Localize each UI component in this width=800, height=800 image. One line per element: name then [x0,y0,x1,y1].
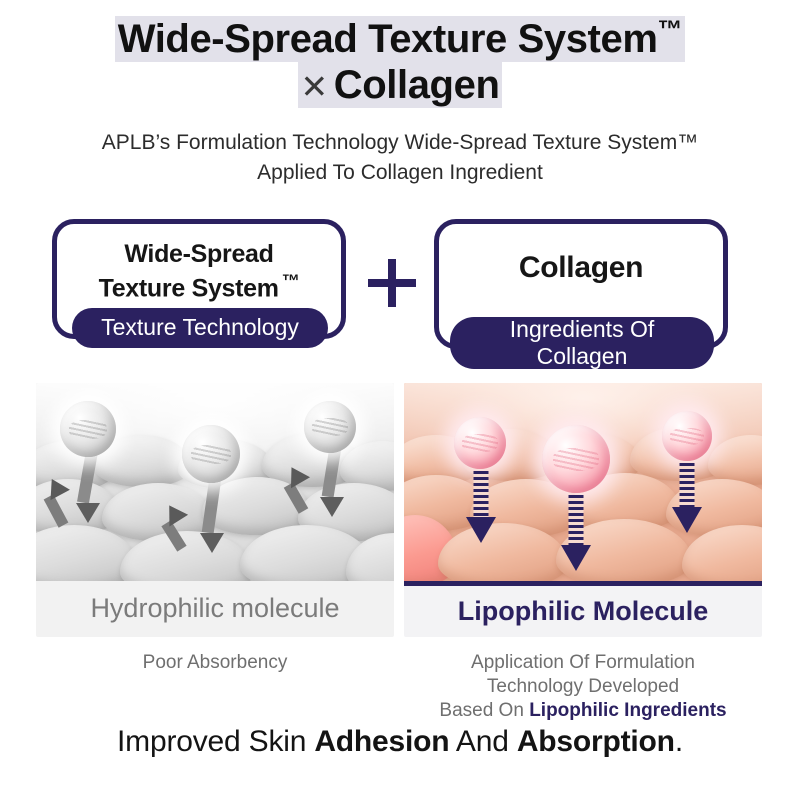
subtitle-line-1: APLB’s Formulation Technology Wide-Sprea… [0,128,800,158]
plus-bar-vertical [388,259,396,307]
hydrophilic-caption-label: Hydrophilic molecule [90,593,339,624]
hydrophilic-illustration [36,383,394,581]
lipophilic-caption: Lipophilic Molecule [404,581,762,637]
hydrophilic-molecule-1 [60,401,116,457]
formula-row: Wide-Spread Texture System™ Texture Tech… [0,213,800,371]
right-box-title: Collagen [439,224,723,286]
hydrophilic-molecule-3 [304,401,356,453]
ingredients-label-line-2: Collagen [537,343,628,369]
title-line-1: Wide-Spread Texture System™ [0,18,800,60]
infographic-page: Wide-Spread Texture System™ ✕Collagen AP… [0,0,800,800]
subtitle-line-2: Applied To Collagen Ingredient [0,158,800,188]
footer-part-1: Improved Skin [117,725,314,758]
title-main-text: Wide-Spread Texture System [118,17,658,61]
page-title: Wide-Spread Texture System™ ✕Collagen [0,0,800,106]
ingredients-of-collagen-pill: Ingredients Of Collagen [450,317,714,369]
application-line-1: Application Of Formulation [471,652,695,673]
lipophilic-molecule-2 [542,425,610,493]
lipophilic-molecule-3 [662,411,712,461]
footer-part-2: And [449,725,516,758]
footer-bold-absorption: Absorption [517,725,675,758]
title-collagen-text: Collagen [334,63,500,107]
trademark-icon: ™ [657,17,682,44]
hydrophilic-panel: Hydrophilic molecule [36,383,394,637]
absorption-arrow-1 [466,471,496,545]
hydrophilic-caption: Hydrophilic molecule [36,581,394,637]
subtitle: APLB’s Formulation Technology Wide-Sprea… [0,128,800,189]
application-line-3-prefix: Based On [439,700,529,721]
sub-captions: Poor Absorbency Application Of Formulati… [0,645,800,723]
title-line-2: ✕Collagen [0,65,800,106]
texture-technology-pill: Texture Technology [72,308,328,348]
footer-bold-adhesion: Adhesion [314,725,449,758]
lipophilic-caption-label: Lipophilic Molecule [458,596,709,627]
bounce-arrow-3 [290,483,302,517]
trademark-icon: ™ [282,271,300,291]
poor-absorbency-label: Poor Absorbency [143,652,288,673]
comparison-panels: Hydrophilic molecule [0,383,800,645]
footer-slogan: Improved Skin Adhesion And Absorption. [0,725,800,759]
poor-absorbency-caption: Poor Absorbency [36,651,394,675]
plus-icon [368,259,416,307]
footer-part-3: . [675,725,683,758]
lipophilic-illustration [404,383,762,581]
bounce-arrow-1 [50,495,62,531]
left-box-title-line-2: Texture System [99,274,279,302]
lipophilic-molecule-1 [454,417,506,469]
absorption-arrow-3 [672,463,702,535]
bounce-arrow-2 [168,521,180,555]
blocked-arrow-2 [206,471,218,557]
application-line-2: Technology Developed [487,676,679,697]
lipophilic-ingredients-highlight: Lipophilic Ingredients [529,700,726,721]
application-caption: Application Of Formulation Technology De… [404,651,762,724]
left-box-title-line-1: Wide-Spread [124,240,273,268]
ingredients-label-line-1: Ingredients Of [510,316,654,342]
absorption-arrow-2 [561,495,591,577]
hydrophilic-molecule-2 [182,425,240,483]
multiply-icon: ✕ [301,67,334,106]
left-box-title: Wide-Spread Texture System™ [57,224,341,304]
texture-technology-label: Texture Technology [101,314,299,341]
lipophilic-panel: Lipophilic Molecule [404,383,762,637]
